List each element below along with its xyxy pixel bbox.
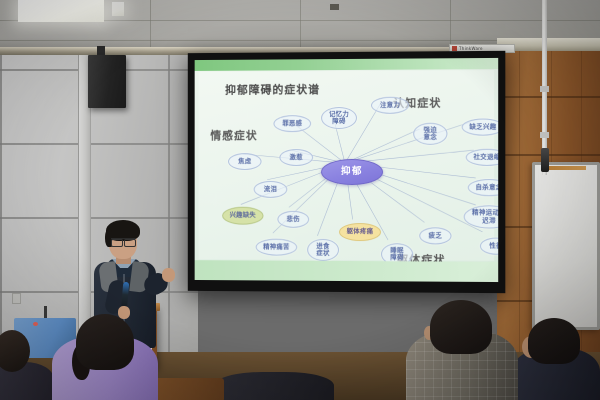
projection-screen: 抑郁障碍的症状谱 情感症状 认知症状 躯体症状: [195, 58, 499, 282]
mindmap-node[interactable]: 激惹: [279, 149, 313, 166]
mindmap-node[interactable]: 缺乏兴趣: [462, 118, 499, 135]
mindmap-node[interactable]: 兴趣缺失: [222, 207, 263, 225]
mindmap-node[interactable]: 强迫 意念: [413, 123, 447, 145]
ceiling-light-panel: [112, 2, 124, 16]
mindmap-node[interactable]: 精神痛苦: [256, 239, 298, 256]
slide-body: 抑郁障碍的症状谱 情感症状 认知症状 躯体症状: [199, 70, 495, 261]
mindmap-node[interactable]: 疲乏: [419, 227, 451, 244]
wall-outlet[interactable]: [12, 293, 21, 304]
slide-top-band: [195, 58, 499, 71]
mindmap-node[interactable]: 焦虑: [228, 153, 262, 170]
audience-member-hair: [76, 314, 134, 370]
hanging-camera: [541, 148, 549, 172]
wall-speaker: [88, 55, 126, 108]
audience-member-hair: [430, 300, 492, 354]
mindmap-node[interactable]: 躯体疼痛: [339, 223, 381, 241]
mindmap-node[interactable]: 流泪: [254, 181, 288, 198]
whiteboard: [532, 162, 600, 330]
mindmap-node[interactable]: 罪恶感: [273, 115, 311, 132]
pole-joint: [540, 132, 549, 138]
mindmap-node[interactable]: 悲伤: [277, 211, 309, 228]
slide-bottom-band: [195, 260, 499, 282]
presentation-slide: 抑郁障碍的症状谱 情感症状 认知症状 躯体症状: [195, 58, 499, 282]
status-led-icon: [33, 322, 38, 326]
mindmap-center-node[interactable]: 抑郁: [321, 159, 383, 185]
audience-member-hair: [528, 318, 580, 364]
mindmap-node[interactable]: 进食 症状: [307, 239, 339, 261]
mindmap-node[interactable]: 注意力: [371, 97, 409, 114]
chair-back: [150, 378, 224, 400]
glasses-icon: [111, 238, 136, 244]
presenter-right-hand: [162, 268, 175, 282]
lecture-hall-photo: ThinkWare 抑郁障碍的症状谱 情感症状 认知症状 躯体症状: [0, 0, 600, 400]
audience-member: [214, 372, 334, 400]
ceiling-light-panel: [18, 0, 104, 22]
projection-screen-frame: 抑郁障碍的症状谱 情感症状 认知症状 躯体症状: [188, 51, 506, 293]
pole-joint: [540, 86, 549, 92]
whiteboard-marker-tray: [548, 166, 586, 170]
mindmap-node[interactable]: 记忆力 障碍: [321, 107, 357, 129]
